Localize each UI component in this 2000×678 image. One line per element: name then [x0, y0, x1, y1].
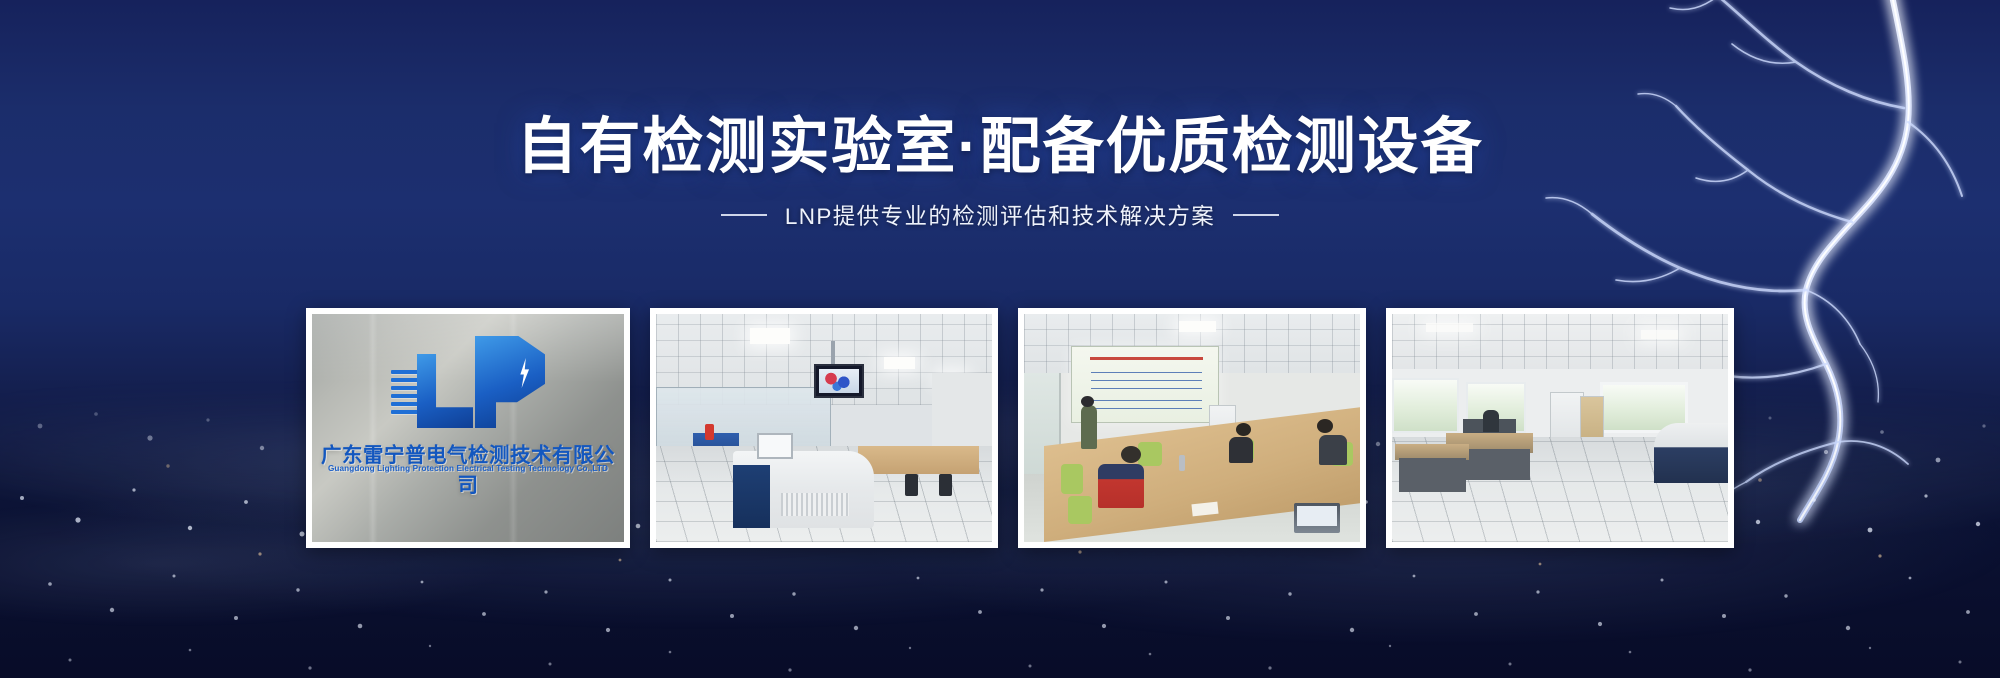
headline-block: 自有检测实验室·配备优质检测设备 LNP提供专业的检测评估和技术解决方案	[0, 112, 2000, 231]
lab-chair	[939, 474, 952, 496]
photo-frame-testing-laboratory[interactable]	[650, 308, 998, 548]
photo-gallery: 广东雷宁普电气检测技术有限公司 Guangdong Lighting Prote…	[306, 308, 1734, 548]
lab-control-console	[733, 451, 874, 529]
attendee-person-front	[1098, 464, 1144, 508]
logo-bars-icon	[391, 366, 419, 428]
reception-counter	[1654, 423, 1728, 482]
lab-chair	[905, 474, 918, 496]
rule-right-decoration	[1233, 214, 1279, 216]
company-name-en: Guangdong Lighting Protection Electrical…	[312, 464, 624, 473]
meeting-papers	[1191, 501, 1218, 516]
rule-left-decoration	[721, 214, 767, 216]
meeting-laptop	[1294, 503, 1340, 533]
logo-letter-p-icon	[475, 336, 545, 428]
lab-panel-light	[750, 328, 790, 344]
meeting-chair	[1138, 442, 1162, 466]
page-title: 自有检测实验室·配备优质检测设备	[0, 112, 2000, 180]
photo-frame-company-signage[interactable]: 广东雷宁普电气检测技术有限公司 Guangdong Lighting Prote…	[306, 308, 630, 548]
logo-lightning-icon	[518, 358, 531, 388]
lab-console-monitor	[757, 433, 793, 459]
office-vent	[1426, 323, 1473, 332]
office-glass-partition	[1392, 378, 1459, 433]
lab-back-wall	[932, 373, 992, 451]
office-vent	[1641, 330, 1678, 339]
lab-wall-monitor	[814, 364, 864, 398]
hero-banner: 自有检测实验室·配备优质检测设备 LNP提供专业的检测评估和技术解决方案	[0, 0, 2000, 678]
lab-workbench	[858, 446, 979, 473]
office-side-desk-panel	[1399, 458, 1466, 492]
meeting-thermos	[1179, 455, 1185, 471]
meeting-chair	[1068, 496, 1092, 524]
attendee-person-right	[1319, 435, 1347, 465]
lnp-logo-mark	[391, 336, 545, 428]
office-worker	[1483, 410, 1499, 432]
meeting-panel-light	[1179, 321, 1216, 332]
lab-panel-light	[884, 357, 914, 368]
logo-letter-l-icon	[417, 354, 473, 428]
photo-frame-office-reception[interactable]	[1386, 308, 1734, 548]
photo-office-reception	[1392, 314, 1728, 542]
photo-testing-laboratory	[656, 314, 992, 542]
attendee-person-mid	[1229, 437, 1253, 463]
meeting-chair	[1061, 464, 1083, 494]
page-subtitle: LNP提供专业的检测评估和技术解决方案	[785, 199, 1215, 231]
attendee-head-right	[1317, 419, 1333, 433]
presenter-person	[1081, 405, 1097, 449]
photo-company-signage: 广东雷宁普电气检测技术有限公司 Guangdong Lighting Prote…	[312, 314, 624, 542]
photo-frame-meeting-room[interactable]	[1018, 308, 1366, 548]
photo-meeting-training-room	[1024, 314, 1360, 542]
subtitle-row: LNP提供专业的检测评估和技术解决方案	[0, 199, 2000, 231]
